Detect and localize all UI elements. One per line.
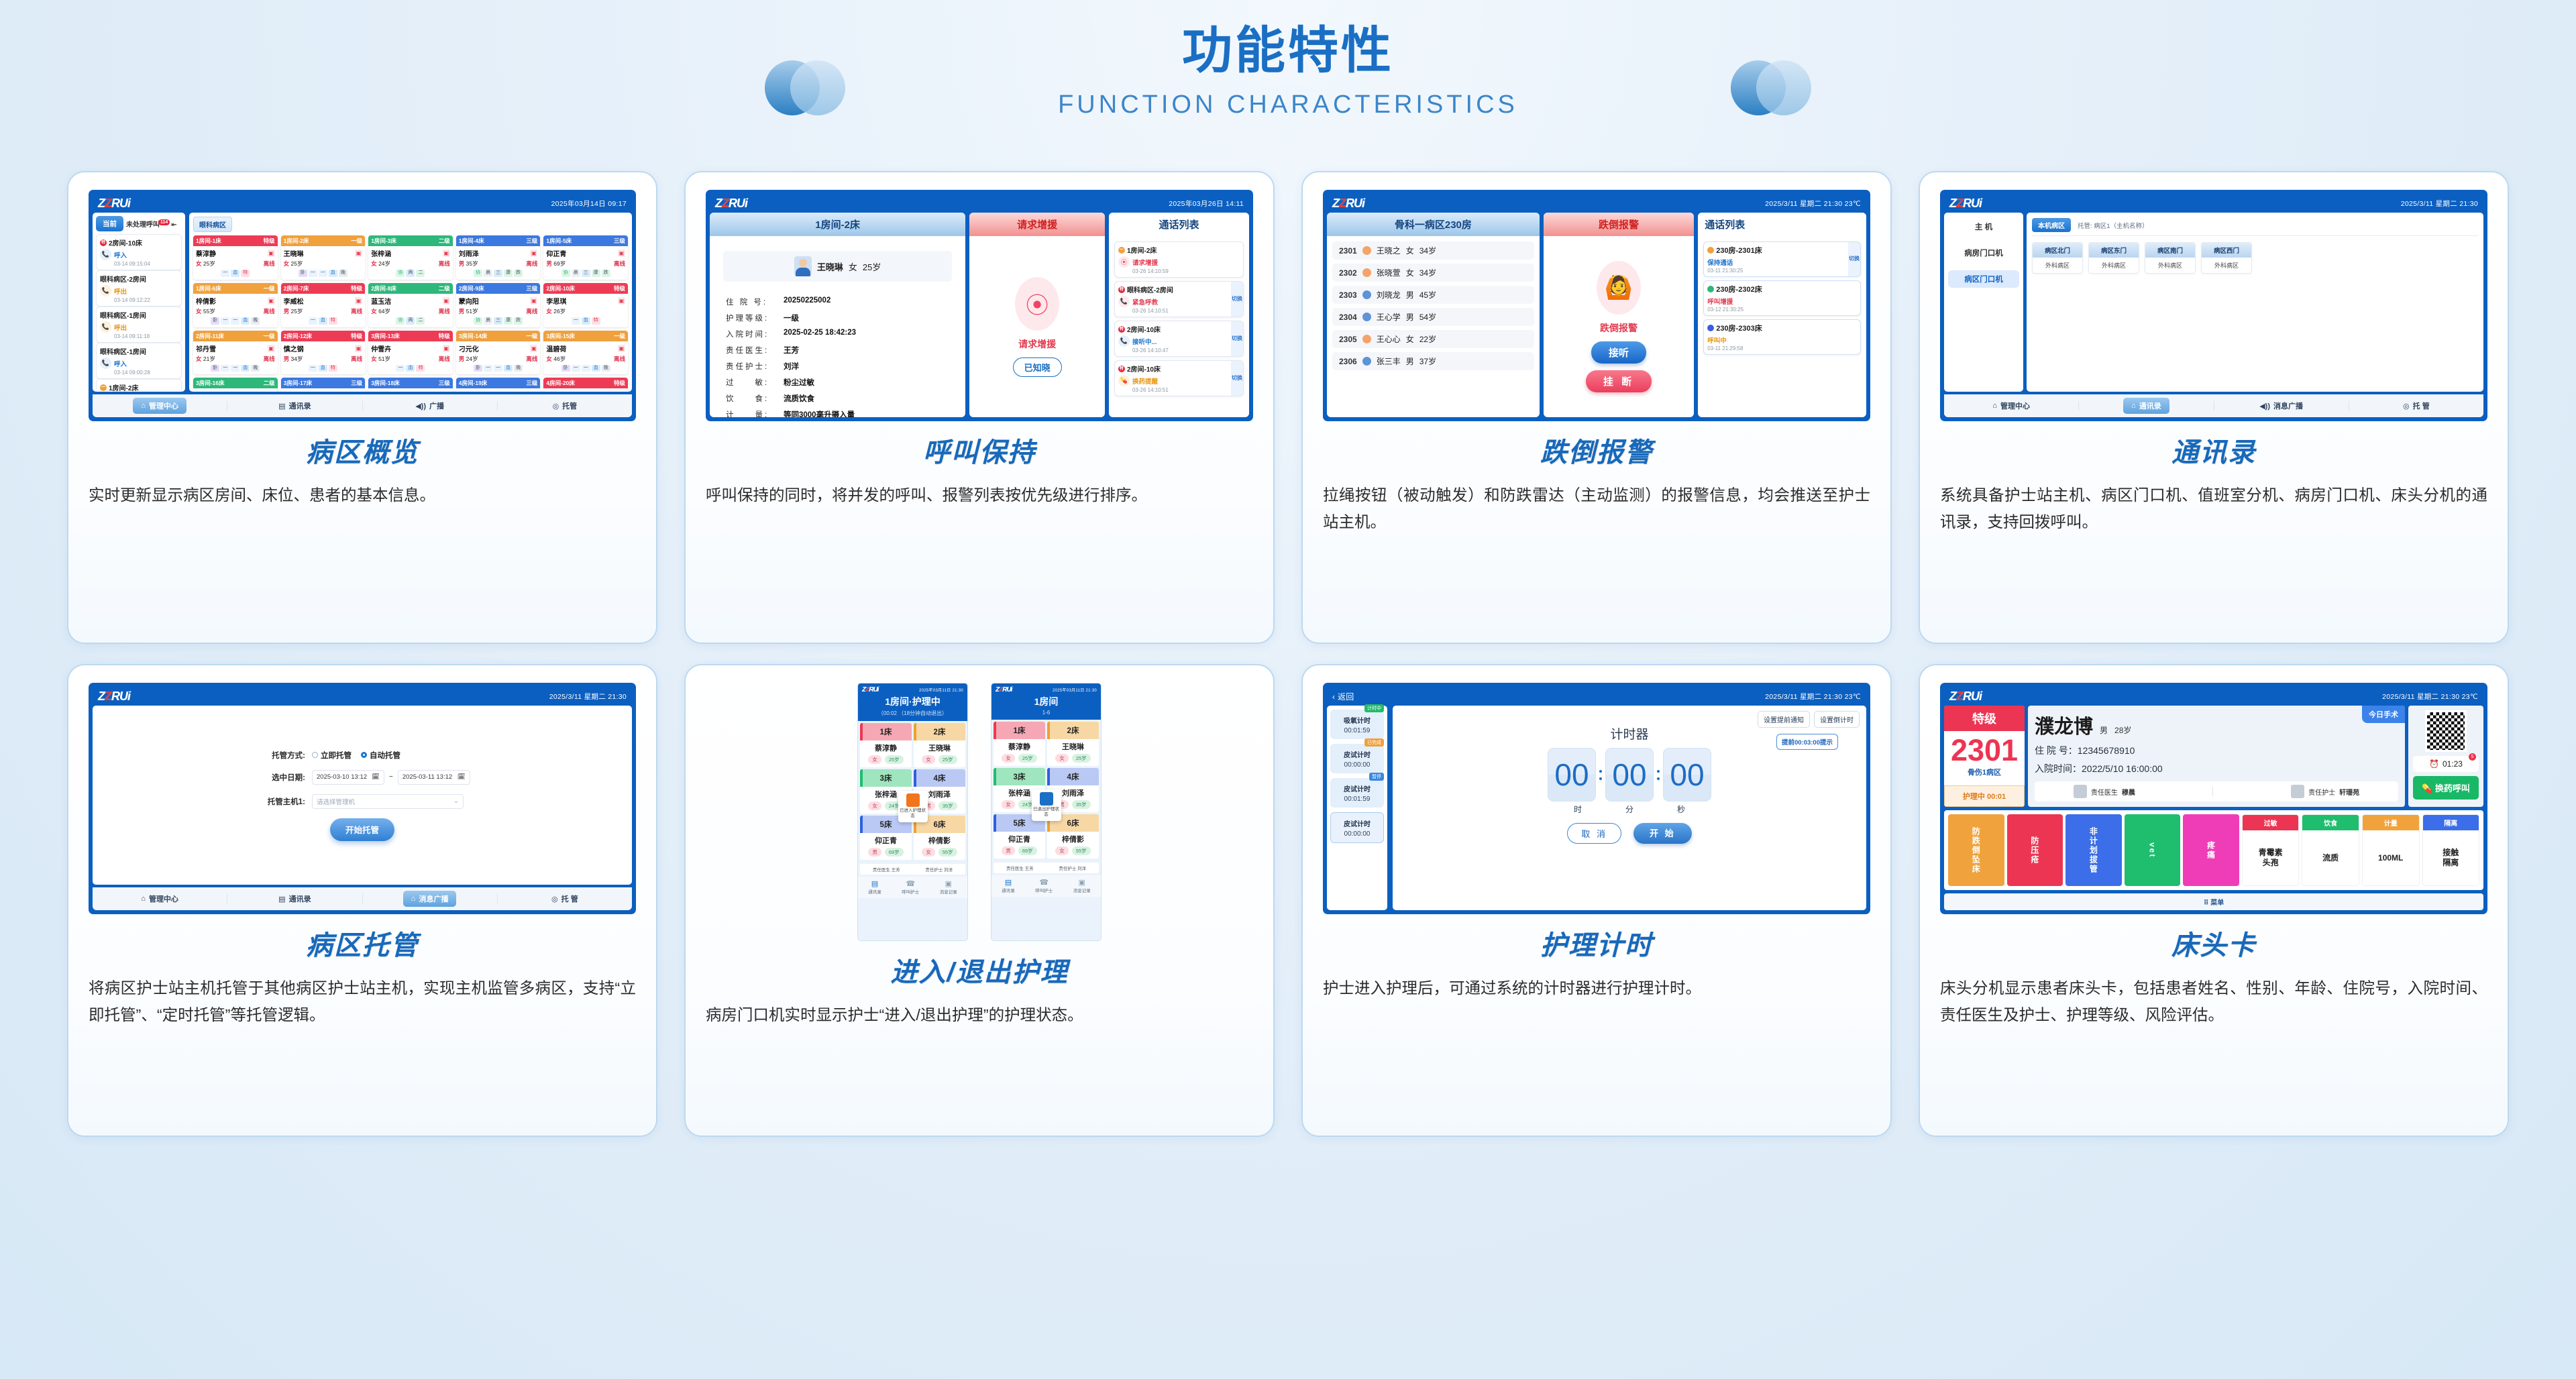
patient-sex: 女 [1406, 333, 1414, 345]
contact-ward: 外科病区 [2202, 258, 2251, 273]
sidebar-item-0[interactable]: 主 机 [1948, 218, 2019, 235]
bed-tag: 血 [504, 365, 513, 372]
age-tag: 55岁 [938, 848, 957, 857]
call-direction-icon: 📞 [1118, 335, 1130, 347]
bed-patient-name: 仰正青 [860, 833, 912, 846]
timer-name: 皮试计时 [1333, 783, 1381, 793]
switch-call-button[interactable]: 切换 [1231, 361, 1243, 396]
bed-card[interactable]: 3房间-18床三级 仝楚然 ▣ 男 29岁 离线 协晨三康跌 [368, 378, 453, 392]
radio-immediate-trust[interactable]: 立即托管 [312, 750, 352, 761]
device-status-icon: ▣ [443, 297, 450, 305]
call-list-panel: 通话列表 230房-2301床 保持通话 03-11 21:30:25 切换 2… [1698, 213, 1866, 417]
admission-time-row: 入院时间：2022/5/10 16:00:00 [2035, 762, 2398, 775]
alert-title: 跌倒报警 [1544, 213, 1694, 236]
call-time: 03-14 09:12:22 [114, 297, 178, 303]
bed-room: 3房间-14床 [459, 332, 488, 340]
medication-call-button[interactable]: 💊 换药呼叫 [2413, 776, 2479, 799]
bed-cell[interactable]: 2床 王晓琳 女 25岁 [914, 723, 965, 767]
age-tag: 25岁 [1072, 754, 1091, 763]
bed-room: 2房间-10床 [546, 284, 575, 292]
alert-label: 请求增援 [1018, 337, 1056, 351]
phone-nav-item-1[interactable]: ☎呼叫护士 [1035, 878, 1053, 893]
switch-call-button[interactable]: 切换 [1848, 242, 1860, 276]
field-value: 20250225002 [784, 296, 830, 307]
bed-label: 6床 [934, 821, 946, 829]
bed-tag: 血 [592, 365, 600, 372]
contact-entry[interactable]: 病区西门 外科病区 [2201, 242, 2252, 274]
bed-tag: 一 [494, 365, 502, 372]
bottom-nav[interactable]: ⌂管理中心▤ 通讯录◀)) 广播◎ 托管 [93, 394, 632, 417]
contact-entry[interactable]: 病区南门 外科病区 [2145, 242, 2196, 274]
seconds-field[interactable]: 00 [1663, 748, 1711, 802]
timer-item[interactable]: 暂停 皮试计时 00:01:59 [1330, 778, 1384, 808]
bed-card[interactable]: 1房间-1床特级 蔡淳静 ▣ 女 25岁 离线 一血特 [193, 235, 278, 280]
contact-name: 病区北门 [2033, 243, 2082, 258]
phone-nav-item-0[interactable]: ▤通讯录 [1002, 878, 1015, 893]
device-titlebar: ZZRUi 2025年03月26日 14:11 [710, 194, 1249, 213]
advance-hint-badge[interactable]: 提前00:03:00提示 [1776, 734, 1838, 750]
bed-patient-name: 仰正青 [546, 248, 566, 258]
patient-name: 刘晓龙 [1377, 289, 1401, 300]
call-title: 1房间-2床 [109, 382, 138, 392]
call-list-item[interactable]: 230房-2303床 呼叫中 03-11 21:29:58 [1703, 319, 1861, 355]
timer-item[interactable]: 计时中 吸氧计时 00:01:59 [1330, 710, 1384, 739]
back-button[interactable]: ‹ 返回 [1332, 691, 1354, 702]
bed-card[interactable]: 4房间-19床三级 芮金坤 ▣ 男 70岁 离线 协晨三康跌 [456, 378, 541, 392]
bed-tag: 二 [416, 317, 425, 325]
bed-card[interactable]: 3房间-15床一级 温碧荷 ▣ 女 46岁 离线 卧一一血晚 [543, 331, 628, 375]
nurse-status-text: 已退出护理状态 [1033, 807, 1060, 818]
nurse-status-popup: 已进入护理状态 [898, 791, 928, 822]
doctor-avatar [2074, 785, 2087, 798]
info-tag-body: 流质 [2302, 830, 2359, 885]
bed-tag: 卧 [474, 365, 482, 372]
bed-tag: 血 [582, 317, 590, 325]
contact-entry[interactable]: 病区东门 外科病区 [2088, 242, 2139, 274]
device-titlebar: ZZRUi 2025/3/11 星期二 21:30 23℃ [1944, 687, 2483, 706]
nav-item-1[interactable]: ⌂通讯录 [2079, 398, 2213, 414]
info-tag-body: 接触隔离 [2423, 830, 2479, 885]
patient-field: 饮 食: 流质饮食 [726, 393, 960, 404]
timer-item[interactable]: 已完成 皮试计时 00:00:00 [1330, 744, 1384, 773]
sex-tag: 女 [922, 755, 935, 764]
panel-title: 骨科一病区230房 [1327, 213, 1540, 236]
device-clock: 2025/3/11 星期二 21:30 [549, 692, 627, 702]
bed-cell[interactable]: 1床 蔡淳静 女 25岁 [860, 723, 912, 767]
online-status: 离线 [614, 260, 625, 268]
bed-tag: 特 [241, 270, 250, 277]
patient-name: 张三丰 [1377, 355, 1401, 367]
call-list-item[interactable]: 眼科病区-2房间 📞 呼出 03-14 09:12:22 [96, 270, 182, 307]
switch-call-button[interactable]: 切换 [1231, 282, 1243, 317]
age-tag: 25岁 [885, 755, 904, 764]
call-time: 03-12 21:30:25 [1707, 307, 1857, 313]
call-list-panel[interactable]: 当前 未处理呼叫114⇤ 特 2房间-10床 📞 呼入 03-14 09:15:… [93, 213, 185, 392]
age-tag: 69岁 [885, 848, 904, 857]
card-title: 呼叫保持 [706, 431, 1253, 470]
staff-footer: 责任医生 王芳责任护士 刘洋 [994, 863, 1099, 873]
call-list-item[interactable]: 特 眼科病区-2房间 📞 紧急呼救 03-26 14:10:51 切换 [1114, 281, 1244, 317]
bed-level: 特级 [264, 237, 275, 245]
contacts-sidebar[interactable]: 主 机病房门口机病区门口机 [1944, 213, 2023, 392]
patient-row[interactable]: 2306 张三丰 男 37岁 [1332, 352, 1534, 370]
contact-name: 病区西门 [2202, 243, 2251, 258]
patient-sex: 男 [1406, 289, 1414, 300]
tab-local-ward[interactable]: 本机病区 [2032, 218, 2071, 232]
device-titlebar: ‹ 返回 2025/3/11 星期二 21:30 23℃ [1327, 687, 1866, 706]
sex-tag: 女 [1055, 846, 1069, 855]
card-title: 跌倒报警 [1323, 431, 1870, 470]
label-date-range: 选中日期: [252, 772, 305, 783]
contact-name: 病区东门 [2089, 243, 2139, 258]
bed-room: 3房间-16床 [196, 379, 225, 387]
bed-label: 1床 [1014, 727, 1026, 735]
room-subtitle: 1-6 [996, 710, 1097, 716]
room-subtitle: （00:02 （18分钟自动退出） [862, 710, 963, 717]
bed-card[interactable]: 1房间-3床二级 张梓涵 ▣ 女 24岁 离线 协两二 [368, 235, 453, 280]
bed-tag: 一 [396, 365, 405, 372]
bed-card[interactable]: 1房间-5床三级 仰正青 ▣ 男 69岁 离线 协晨三康跌 [543, 235, 628, 280]
bed-card[interactable]: 2房间-11床一级 祁丹雪 ▣ 女 21岁 离线 卧一一血晚 [193, 331, 278, 375]
device-titlebar: ZZRUi 2025/3/11 星期二 21:30 [1944, 194, 2483, 213]
call-list-item[interactable]: 230房-2301床 保持通话 03-11 21:30:25 切换 [1703, 241, 1861, 277]
bed-card[interactable]: 2房间-9床三级 蒙向阳 ▣ 男 51岁 离线 协晨三康跌 [456, 283, 541, 327]
radio-auto-trust[interactable]: 自动托管 [361, 750, 400, 761]
call-list-item[interactable]: 特 2房间-10床 💊 换药提醒 03-26 14:10:51 切换 [1114, 360, 1244, 396]
unit-hours: 时 [1554, 804, 1602, 815]
bed-patient-name: 温碧荷 [546, 343, 566, 353]
nurse-avatar [1040, 792, 1053, 806]
patient-row[interactable]: 2304 王心学 男 54岁 [1332, 308, 1534, 326]
patient-field: 住 院 号: 20250225002 [726, 296, 960, 307]
sidebar-item-2[interactable]: 病区门口机 [1948, 270, 2019, 288]
bed-level: 特级 [351, 332, 362, 340]
zerui-logo: ZZRUi [862, 686, 878, 694]
alert-title: 请求增援 [969, 213, 1105, 236]
bed-label: 1床 [880, 728, 892, 736]
timer-list[interactable]: 计时中 吸氧计时 00:01:59 已完成 皮试计时 00:00:00 暂停 皮… [1327, 706, 1387, 910]
cancel-button[interactable]: 取 消 [1567, 823, 1621, 844]
nursing-status: 护理中 00:01 [1944, 785, 2025, 807]
minutes-field[interactable]: 00 [1605, 748, 1654, 802]
device-status-icon: ▣ [355, 297, 362, 305]
card-description: 系统具备护士站主机、病区门口机、值班室分机、病房门口机、床头分机的通讯录，支持回… [1940, 482, 2487, 536]
care-level-badge: 特级 [1944, 706, 2025, 731]
bed-tag: 三 [494, 317, 502, 325]
bed-room: 2房间-12床 [284, 332, 313, 340]
staff-footer: 责任医生 王芳责任护士 刘洋 [860, 864, 965, 875]
info-tag-head: 过敏 [2243, 815, 2299, 830]
sex-tag: 女 [1002, 754, 1015, 763]
set-advance-notice-button[interactable]: 设置提前通知 [1758, 711, 1810, 728]
device-status-icon: ▣ [443, 250, 450, 257]
bed-card[interactable]: 3房间-17床三级 濮靖宣 ▣ 男 64岁 离线 协晨三康跌 [281, 378, 366, 392]
phone-nav: ▤通讯录 ☎呼叫护士 ▣消息记录 [858, 877, 967, 898]
bed-card[interactable]: 3房间-13床特级 仲雪卉 ▣ 女 51岁 离线 一血特 [368, 331, 453, 375]
timer-item[interactable]: 皮试计时 00:00:00 [1330, 812, 1384, 843]
nav-item-1[interactable]: ▤ 通讯录 [227, 891, 362, 907]
screenshot-nursing-timer: ‹ 返回 2025/3/11 星期二 21:30 23℃ 计时中 吸氧计时 00… [1323, 683, 1870, 914]
patient-sex: 女 [1406, 267, 1414, 278]
start-trust-button[interactable]: 开始托管 [330, 818, 394, 841]
timer-value: 00:01:59 [1333, 727, 1381, 734]
panel-title: 1房间-2床 [710, 213, 965, 236]
online-status: 离线 [439, 307, 450, 315]
bed-tag: 一 [582, 365, 590, 372]
bed-card[interactable]: 4房间-20床特级 褒天纵 ▣ 男 30岁 离线 一血特 [543, 378, 628, 392]
bed-tag: 跌 [602, 270, 610, 277]
bed-card[interactable]: 1房间-4床三级 刘雨泽 ▣ 男 35岁 离线 协晨三康跌 [456, 235, 541, 280]
bed-cell[interactable]: 1床 蔡淳静 女 25岁 [994, 722, 1045, 766]
bed-tag: 晨 [484, 317, 492, 325]
age-tag: 35岁 [1072, 800, 1091, 809]
call-status: 呼入 [114, 250, 127, 260]
set-countdown-button[interactable]: 设置倒计时 [1814, 711, 1860, 728]
bottom-nav[interactable]: ⌂ 管理中心⌂通讯录◀)) 消息广播◎ 托 管 [1944, 394, 2483, 417]
nav-item-0[interactable]: ⌂管理中心 [93, 398, 227, 414]
patient-field: 责任护士: 刘洋 [726, 361, 960, 372]
patient-row[interactable]: 2301 王晓之 女 34岁 [1332, 241, 1534, 260]
device-status-icon: ▣ [530, 345, 537, 352]
field-label: 过 敏: [726, 377, 784, 388]
tab-unhandled[interactable]: 未处理呼叫114⇤ [126, 219, 177, 229]
call-list-item[interactable]: 一 1房间-2床 📞 呼入 03-14 09:00:25 [96, 379, 182, 392]
bed-patient-name: 蓝玉洁 [371, 296, 391, 306]
card-description: 实时更新显示病区房间、床位、患者的基本信息。 [89, 482, 636, 508]
info-tag-head: 计量 [2363, 815, 2419, 830]
bed-patient-name: 梓倩影 [196, 296, 216, 306]
patient-avatar [1362, 290, 1371, 299]
sex-tag: 男 [868, 848, 881, 857]
bed-tag: 协 [396, 317, 405, 325]
bed-tag: 跌 [514, 317, 523, 325]
staff-entry: 责任医生 王芳 [873, 866, 900, 873]
bed-tag: 一 [309, 270, 317, 277]
bed-card[interactable]: 1房间-6床一级 梓倩影 ▣ 女 55岁 离线 卧一一血晚 [193, 283, 278, 327]
bed-level: 三级 [526, 379, 537, 387]
start-button[interactable]: 开 始 [1633, 823, 1692, 844]
bed-room: 1房间-6床 [196, 284, 221, 292]
bed-card[interactable]: 3房间-16床二级 晏初兰 ▣ 女 53岁 离线 协两二 [193, 378, 278, 392]
ward-tag[interactable]: 眼科病区 [193, 217, 232, 232]
phone-nav-item-2[interactable]: ▣消息记录 [940, 879, 957, 895]
staff-row: 责任医生 穆晨 责任护士 轩珊苑 [2035, 781, 2398, 802]
call-list-item[interactable]: 眼科病区-1房间 📞 呼出 03-14 09:11:18 [96, 307, 182, 343]
call-list-item[interactable]: 眼科病区-1房间 📞 呼入 03-14 09:00:28 [96, 343, 182, 379]
door-machine-screen: ZZRUi 2025年03月11日 21:30 1房间·护理中 （00:02 （… [857, 683, 968, 941]
hangup-button[interactable]: 挂 断 [1586, 370, 1652, 392]
bed-patient-name: 仝楚然 [371, 390, 391, 392]
zerui-logo: ZZRUi [1949, 689, 1982, 704]
nav-item-2[interactable]: ◀)) 广播 [363, 398, 497, 414]
call-time: 03-26 14:10:59 [1132, 268, 1240, 274]
phone-nav-item-1[interactable]: ☎呼叫护士 [902, 879, 919, 895]
alarm-timer[interactable]: ⏰01:23 5 [2413, 756, 2479, 772]
card-title: 床头卡 [1940, 924, 2487, 962]
bed-tag: 两 [406, 317, 415, 325]
feature-card-grid: ZZRUi 2025年03月14日 09:17 当前 未处理呼叫114⇤ 特 2… [0, 171, 2576, 1137]
device-clock: 2025/3/11 星期二 21:30 23℃ [1765, 199, 1861, 209]
bed-tag: 特 [329, 317, 337, 325]
card-title: 病区托管 [89, 924, 636, 962]
call-title: 1房间-2床 [1127, 245, 1157, 255]
sex-tag: 女 [868, 755, 881, 764]
call-list-item[interactable]: 特 2房间-10床 📞 呼入 03-14 09:15:04 [96, 234, 182, 270]
patient-row[interactable]: 2305 王心心 女 22岁 [1332, 330, 1534, 348]
nav-item-1[interactable]: ▤ 通讯录 [227, 398, 362, 414]
bottom-nav[interactable]: ⌂ 管理中心▤ 通讯录⌂消息广播◎ 托 管 [93, 887, 632, 910]
info-tag: 隔离 接触隔离 [2422, 814, 2480, 886]
call-direction-icon: 📞 [100, 321, 111, 333]
bed-patient-name: 张梓涵 [371, 248, 391, 258]
acknowledge-button[interactable]: 已知晓 [1013, 357, 1062, 377]
patient-field: 责任医生: 王芳 [726, 345, 960, 355]
nav-item-0[interactable]: ⌂ 管理中心 [1944, 398, 2078, 414]
patient-row[interactable]: 2303 刘晓龙 男 45岁 [1332, 286, 1534, 304]
patient-age: 25岁 [863, 260, 881, 273]
call-list-item[interactable]: 特 2房间-10床 📞 接听中... 03-26 14:10:47 切换 [1114, 321, 1244, 357]
info-tag: 过敏 青霉素头孢 [2242, 814, 2300, 886]
bed-card[interactable]: 3房间-14床一级 刁元化 ▣ 男 24岁 离线 卧一一血晚 [456, 331, 541, 375]
bed-patient-name: 蒙向阳 [459, 296, 479, 306]
bed-grid: 1床 蔡淳静 女 25岁 2床 王晓琳 女 25岁 3床 张梓涵 女 24岁 4… [991, 720, 1101, 861]
patient-field: 计 量: 等同3000毫升摄入量 [726, 409, 960, 417]
date-start-input[interactable]: 2025-03-10 13:12🗓 [312, 770, 384, 785]
device-clock: 2025/3/11 星期二 21:30 [2401, 199, 2478, 209]
screenshot-bedside-card: ZZRUi 2025/3/11 星期二 21:30 23℃ 特级 2301 骨伤… [1940, 683, 2487, 914]
card-description: 将病区护士站主机托管于其他病区护士站主机，实现主机监管多病区，支持“立即托管”、… [89, 975, 636, 1029]
device-status-icon: ▣ [618, 250, 625, 257]
bed-cell[interactable]: 6床 梓倩影 女 55岁 [914, 816, 965, 860]
bed-cell[interactable]: 6床 梓倩影 女 55岁 [1047, 814, 1099, 859]
bed-number: 2301 [1944, 731, 2025, 767]
call-direction-icon: 📞 [100, 249, 111, 260]
menu-button[interactable]: ⠿ 菜单 [1944, 893, 2483, 910]
call-title: 眼科病区-2房间 [100, 274, 146, 284]
info-tag-head: 隔离 [2423, 815, 2479, 830]
nav-icon: ☎ [1035, 878, 1053, 887]
bed-label: 4床 [934, 775, 946, 783]
bed-tag: 血 [329, 270, 337, 277]
bed-number: 2303 [1339, 290, 1357, 300]
call-time: 03-11 21:30:25 [1707, 268, 1845, 274]
timer-status-badge: 计时中 [1364, 704, 1384, 712]
online-status: 离线 [351, 307, 362, 315]
call-time: 03-14 09:15:04 [114, 261, 178, 267]
bed-room: 1房间-3床 [371, 237, 396, 245]
hours-field[interactable]: 00 [1548, 748, 1596, 802]
nav-item-0[interactable]: ⌂ 管理中心 [93, 891, 227, 907]
card-title: 护理计时 [1323, 924, 1870, 962]
call-status: 呼出 [114, 286, 127, 296]
call-title: 230房-2302床 [1716, 284, 1762, 294]
field-value: 流质饮食 [784, 393, 814, 404]
device-status-icon: ▣ [268, 297, 275, 305]
sex-tag: 男 [1002, 846, 1015, 855]
device-status-icon: ▣ [618, 345, 625, 352]
tab-current[interactable]: 当前 [96, 216, 123, 231]
bed-card[interactable]: 2房间-7床特级 李威松 ▣ 男 25岁 离线 一血特 [281, 283, 366, 327]
bed-tag: 卧 [299, 270, 307, 277]
bed-cell[interactable]: 2床 王晓琳 女 25岁 [1047, 722, 1099, 766]
bed-tag: 一 [231, 365, 239, 372]
bed-tag: 康 [504, 317, 513, 325]
bed-cell[interactable]: 5床 仰正青 男 69岁 [860, 816, 912, 860]
bed-tag: 两 [406, 270, 415, 277]
nav-item-3[interactable]: ◎ 托 管 [498, 891, 632, 907]
bed-tag: 一 [221, 317, 229, 325]
patient-name: 王晓之 [1377, 245, 1401, 256]
bed-tag: 二 [416, 270, 425, 277]
colon-separator [1599, 770, 1602, 780]
zerui-logo: ZZRUi [98, 689, 130, 704]
timer-main: 设置提前通知 设置倒计时 计时器 提前00:03:00提示 00 00 00 [1393, 706, 1866, 910]
answer-button[interactable]: 接听 [1591, 341, 1646, 364]
bed-tag: 血 [319, 317, 327, 325]
phone-nav-item-0[interactable]: ▤通讯录 [868, 879, 881, 895]
host-select[interactable]: 请选择管理机⌄ [312, 794, 464, 809]
bed-card[interactable]: 2房间-8床二级 蓝玉洁 ▣ 女 64岁 离线 协两二 [368, 283, 453, 327]
date-end-input[interactable]: 2025-03-11 13:12🗓 [398, 770, 470, 785]
nav-item-2[interactable]: ⌂消息广播 [363, 891, 497, 907]
bed-card[interactable]: 2房间-10床特级 李思琪 ▣ 女 26岁 一血特 [543, 283, 628, 327]
switch-call-button[interactable]: 切换 [1231, 321, 1243, 356]
bed-cell[interactable]: 5床 仰正青 男 69岁 [994, 814, 1045, 859]
patient-row[interactable]: 2302 张晓萱 女 34岁 [1332, 264, 1534, 282]
phone-nav-item-2[interactable]: ▣消息记录 [1073, 878, 1091, 893]
call-time: 03-14 09:00:28 [114, 370, 178, 376]
alert-panel: 请求增援 ⦿ 请求增援 已知晓 [969, 213, 1105, 417]
call-list-item[interactable]: 一 1房间-2床 ⦿ 请求增援 03-26 14:10:59 [1114, 241, 1244, 278]
nav-item-3[interactable]: ◎ 托管 [498, 398, 632, 414]
nav-item-3[interactable]: ◎ 托 管 [2349, 398, 2483, 414]
bed-tag: 协 [474, 317, 482, 325]
bed-label: 2床 [1067, 727, 1079, 735]
call-status: 呼出 [114, 323, 127, 332]
chevron-down-icon: ⌄ [453, 797, 459, 805]
nav-icon: ▣ [1073, 878, 1091, 887]
card-title: 通讯录 [1940, 431, 2487, 470]
bed-number: 2301 [1339, 246, 1357, 256]
bed-patient-name: 刘雨泽 [459, 248, 479, 258]
bed-tag: 晚 [339, 270, 347, 277]
qr-code[interactable] [2425, 710, 2467, 752]
timer-value: 00:01:59 [1333, 795, 1381, 803]
page-title: 功能特性 [0, 25, 2576, 76]
nav-item-2[interactable]: ◀)) 消息广播 [2214, 398, 2349, 414]
call-status: 换药提醒 [1132, 376, 1158, 386]
bed-room: 3房间-13床 [371, 332, 400, 340]
bed-patient-name: 蔡淳静 [196, 248, 216, 258]
device-status-icon: ▣ [530, 250, 537, 257]
patient-age: 45岁 [1419, 289, 1436, 300]
call-status: 呼叫增援 [1707, 296, 1857, 306]
tab-hosted-ward[interactable]: 托管: 病区1（主机名称） [2078, 221, 2149, 230]
sidebar-item-1[interactable]: 病房门口机 [1948, 244, 2019, 262]
bed-card[interactable]: 2房间-12床特级 慎之钢 ▣ 男 34岁 离线 一血特 [281, 331, 366, 375]
bed-patient-name: 仰正青 [994, 832, 1045, 845]
contact-entry[interactable]: 病区北门 外科病区 [2032, 242, 2083, 274]
staff-entry: 责任护士 刘洋 [925, 866, 953, 873]
bed-card[interactable]: 1房间-2床一级 王晓琳 ▣ 女 25岁 卧一一血晚 [281, 235, 366, 280]
feature-card-bedside-card: ZZRUi 2025/3/11 星期二 21:30 23℃ 特级 2301 骨伤… [1919, 664, 2509, 1137]
bed-patient-name: 王晓琳 [914, 740, 965, 754]
call-status: 呼入 [114, 359, 127, 368]
timer-status-badge: 暂停 [1369, 773, 1384, 781]
bed-level: 三级 [351, 379, 362, 387]
nurse-avatar [906, 793, 920, 807]
call-list-item[interactable]: 230房-2302床 呼叫增援 03-12 21:30:25 [1703, 280, 1861, 316]
